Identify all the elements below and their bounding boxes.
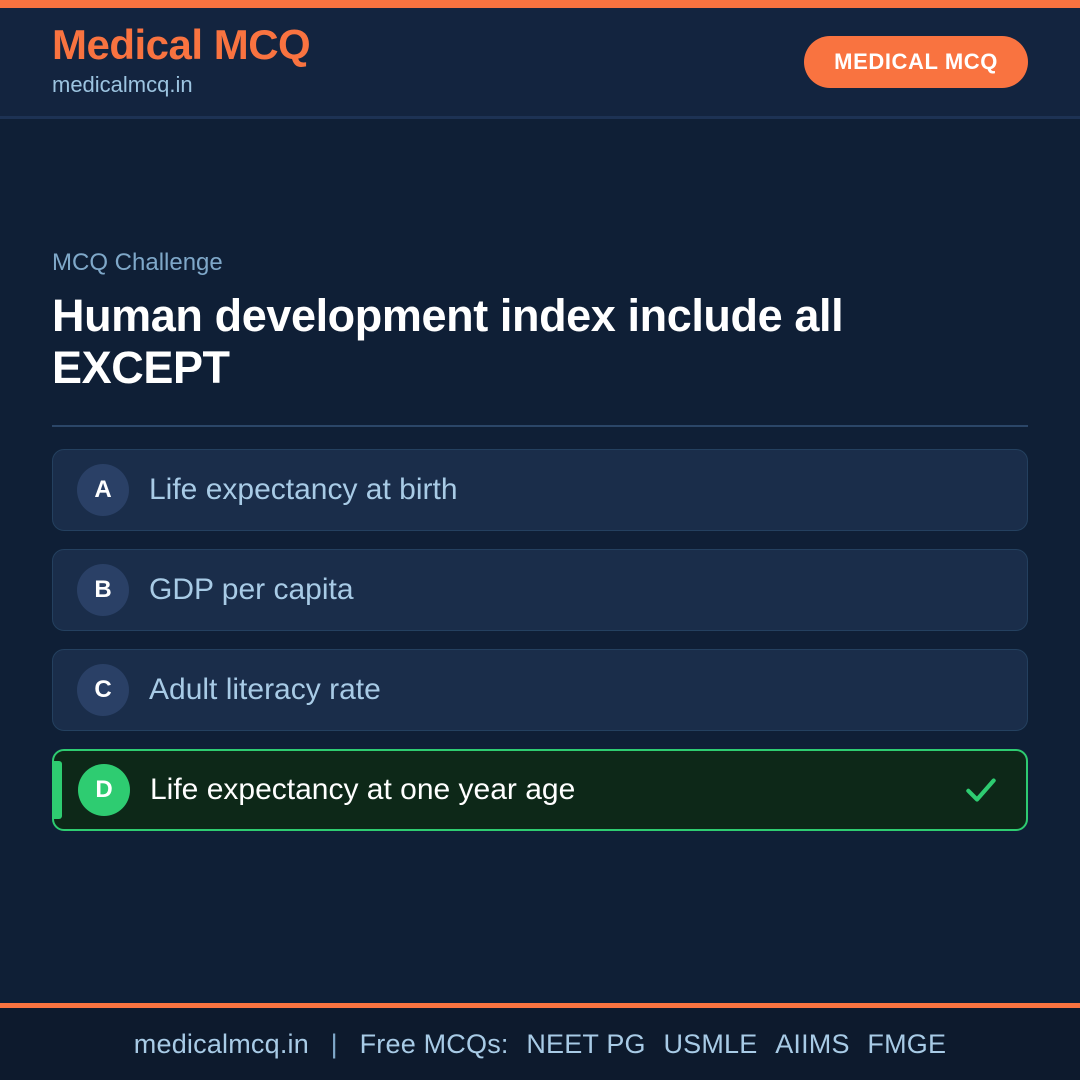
brand-subtitle: medicalmcq.in xyxy=(52,70,310,101)
footer-exam-fmge: FMGE xyxy=(857,1029,946,1059)
question-text: Human development index include all EXCE… xyxy=(52,290,912,395)
footer-exam-neetpg: NEET PG xyxy=(516,1029,645,1059)
option-label-b: GDP per capita xyxy=(149,572,1001,608)
option-letter-c: C xyxy=(77,664,129,716)
option-a[interactable]: A Life expectancy at birth xyxy=(52,449,1028,531)
option-letter-a: A xyxy=(77,464,129,516)
page-header: Medical MCQ medicalmcq.in MEDICAL MCQ xyxy=(0,8,1080,119)
footer-separator: | xyxy=(317,1029,352,1060)
footer-text: medicalmcq.in | Free MCQs: NEET PG USMLE… xyxy=(134,1029,946,1060)
main-content: MCQ Challenge Human development index in… xyxy=(0,119,1080,1003)
mcq-card: Medical MCQ medicalmcq.in MEDICAL MCQ MC… xyxy=(0,0,1080,1080)
options-list: A Life expectancy at birth B GDP per cap… xyxy=(52,449,1028,831)
footer-exam-aiims: AIIMS xyxy=(765,1029,850,1059)
top-accent-bar xyxy=(0,0,1080,8)
question-block: MCQ Challenge Human development index in… xyxy=(52,249,1028,831)
footer-prefix: Free MCQs: xyxy=(360,1029,509,1059)
brand-title: Medical MCQ xyxy=(52,23,310,67)
option-d[interactable]: D Life expectancy at one year age xyxy=(52,749,1028,831)
footer-exams: NEET PG USMLE AIIMS FMGE xyxy=(516,1029,946,1059)
header-badge: MEDICAL MCQ xyxy=(804,36,1028,88)
page-footer: medicalmcq.in | Free MCQs: NEET PG USMLE… xyxy=(0,1003,1080,1080)
check-icon xyxy=(962,771,1000,809)
option-c[interactable]: C Adult literacy rate xyxy=(52,649,1028,731)
option-b[interactable]: B GDP per capita xyxy=(52,549,1028,631)
option-letter-d: D xyxy=(78,764,130,816)
eyebrow-label: MCQ Challenge xyxy=(52,249,1028,278)
option-label-c: Adult literacy rate xyxy=(149,672,1001,708)
option-label-d: Life expectancy at one year age xyxy=(150,772,962,808)
footer-exam-usmle: USMLE xyxy=(653,1029,757,1059)
brand: Medical MCQ medicalmcq.in xyxy=(52,23,310,101)
footer-site: medicalmcq.in xyxy=(134,1029,309,1059)
correct-accent-bar xyxy=(54,761,62,819)
question-divider xyxy=(52,425,1028,427)
option-label-a: Life expectancy at birth xyxy=(149,472,1001,508)
option-letter-b: B xyxy=(77,564,129,616)
